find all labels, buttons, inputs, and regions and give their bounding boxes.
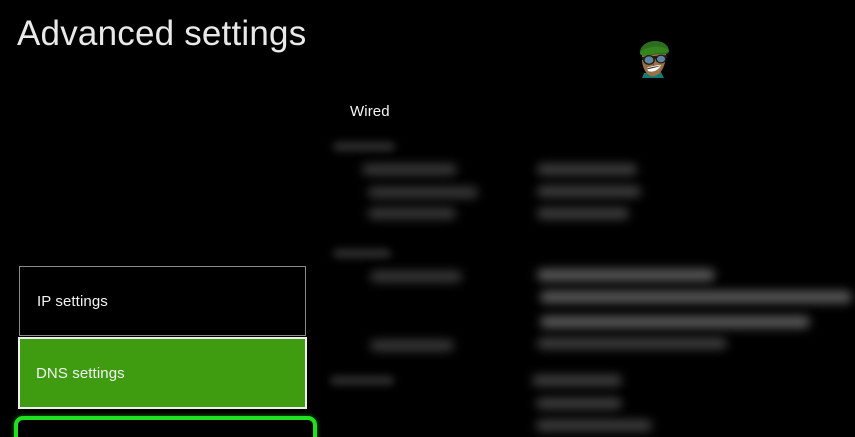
redacted-key: [368, 208, 456, 219]
redacted-value: [536, 398, 622, 409]
redacted-key: [370, 340, 454, 351]
redacted-key: [362, 164, 457, 175]
redacted-value: [537, 186, 641, 197]
redacted-key: [368, 187, 478, 198]
redacted-value: [537, 208, 629, 219]
redacted-group-header: [333, 142, 395, 151]
redacted-value: [537, 269, 715, 281]
detail-heading: Wired: [350, 103, 390, 120]
network-detail-pane: Wired: [0, 0, 855, 437]
redacted-value: [540, 316, 810, 328]
advanced-settings-screen: Advanced settings: [0, 0, 855, 437]
redacted-group-header: [333, 249, 391, 258]
redacted-value: [536, 420, 652, 431]
redacted-group-header: [330, 376, 394, 385]
redacted-value: [537, 338, 727, 349]
redacted-key: [370, 271, 462, 282]
redacted-value: [532, 375, 622, 386]
redacted-value: [540, 291, 852, 303]
redacted-value: [537, 164, 637, 175]
